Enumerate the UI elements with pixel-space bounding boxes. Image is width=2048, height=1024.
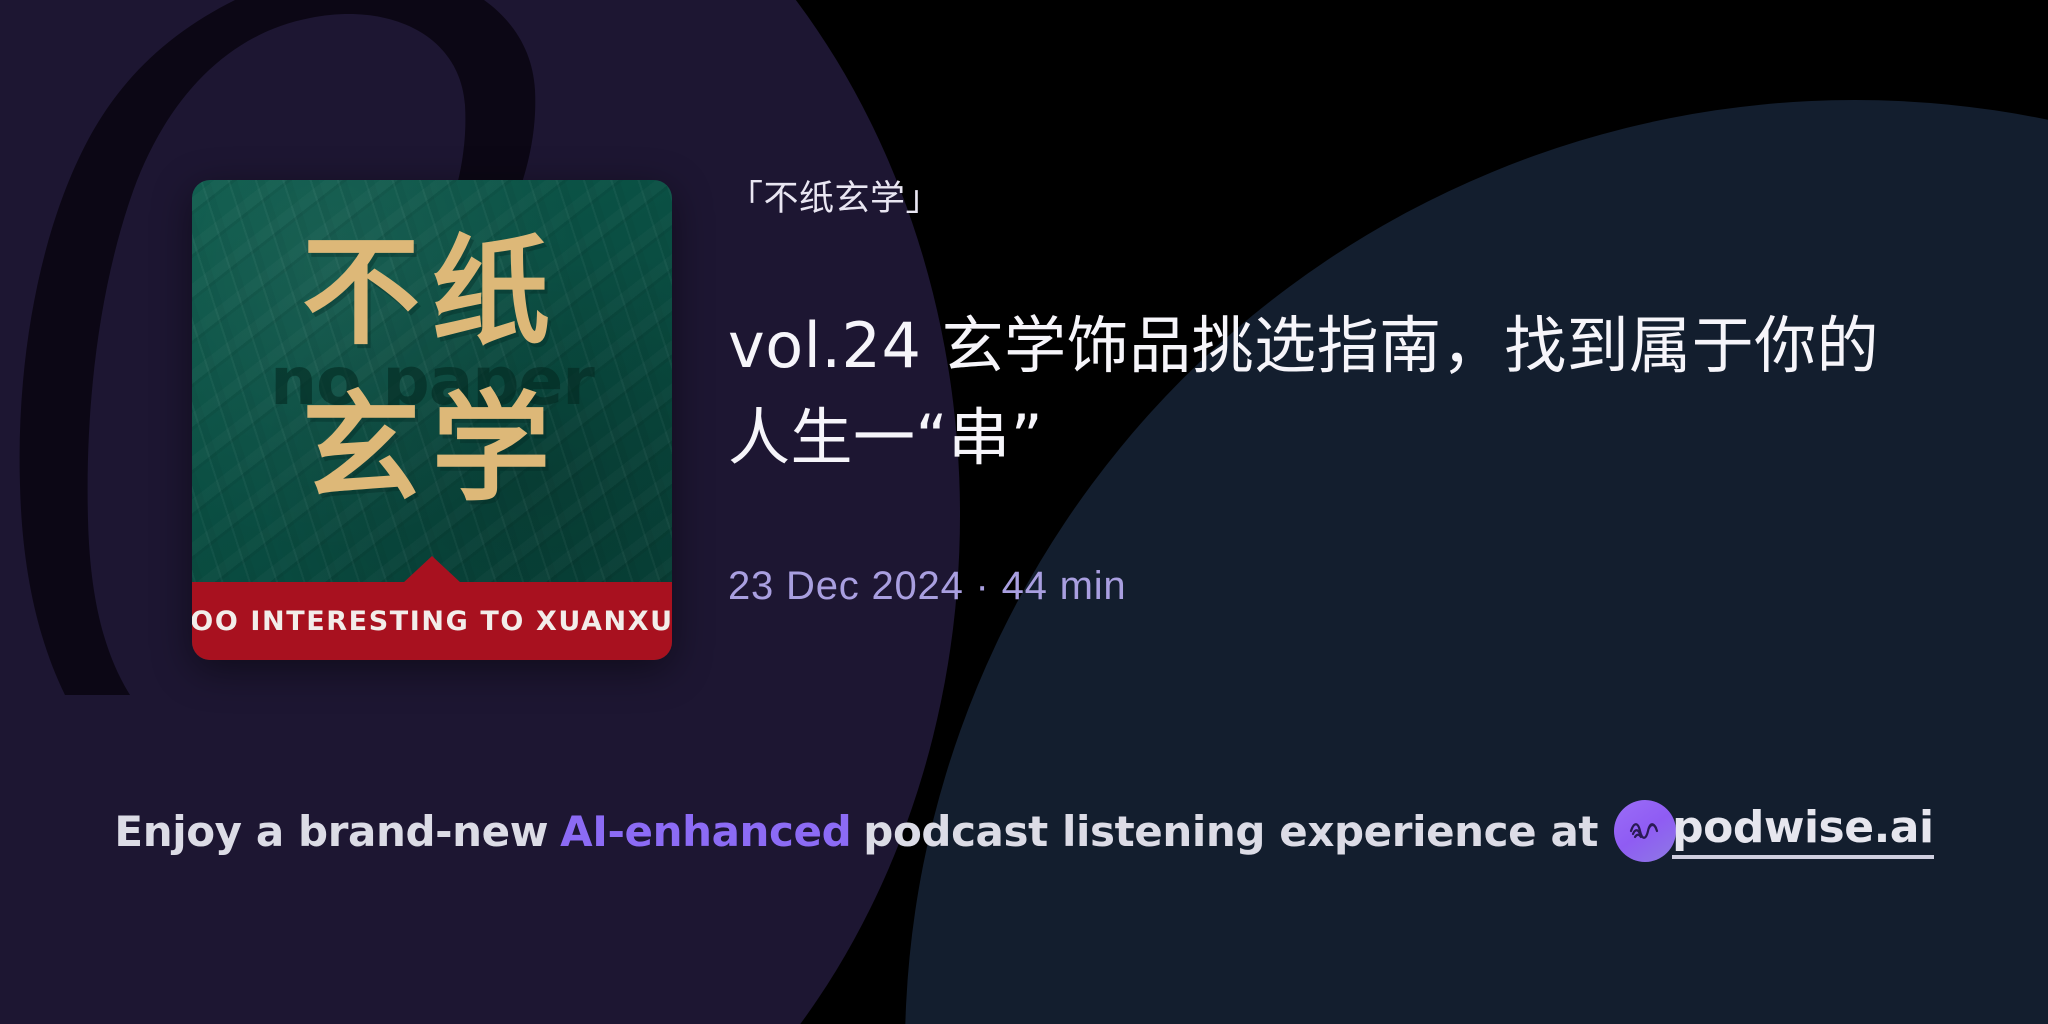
podwise-brand-link[interactable]: podwise.ai: [1614, 800, 1933, 862]
podcast-share-card: no paper 不纸 玄学 TOO INTERESTING TO XUANXU…: [0, 0, 2048, 1024]
tagline-text-accent: AI-enhanced: [560, 807, 851, 856]
card-content: no paper 不纸 玄学 TOO INTERESTING TO XUANXU…: [0, 0, 2048, 1024]
cover-banner: TOO INTERESTING TO XUANXUE: [192, 582, 672, 660]
cover-banner-text: TOO INTERESTING TO XUANXUE: [192, 606, 672, 637]
cover-art-canvas: no paper 不纸 玄学 TOO INTERESTING TO XUANXU…: [192, 180, 672, 660]
tagline-text-before: Enjoy a brand-new: [114, 807, 548, 856]
cover-title-cjk: 不纸 玄学: [192, 214, 672, 526]
episode-title: vol.24 玄学饰品挑选指南，找到属于你的人生一“串”: [728, 300, 1888, 484]
tagline-text-after: podcast listening experience at: [863, 807, 1598, 856]
podwise-brand-name[interactable]: podwise.ai: [1672, 803, 1933, 859]
episode-meta: 23 Dec 2024 · 44 min: [728, 560, 1908, 612]
cover-title-row-2: 玄学: [192, 370, 672, 526]
footer-tagline: Enjoy a brand-new AI-enhanced podcast li…: [0, 800, 2048, 862]
cover-title-row-1: 不纸: [192, 214, 672, 370]
podcast-cover-art[interactable]: no paper 不纸 玄学 TOO INTERESTING TO XUANXU…: [192, 180, 672, 660]
podwise-waveform-icon: [1614, 800, 1676, 862]
show-name[interactable]: 「不纸玄学」: [728, 176, 1908, 222]
episode-info: 「不纸玄学」 vol.24 玄学饰品挑选指南，找到属于你的人生一“串” 23 D…: [728, 176, 1908, 612]
